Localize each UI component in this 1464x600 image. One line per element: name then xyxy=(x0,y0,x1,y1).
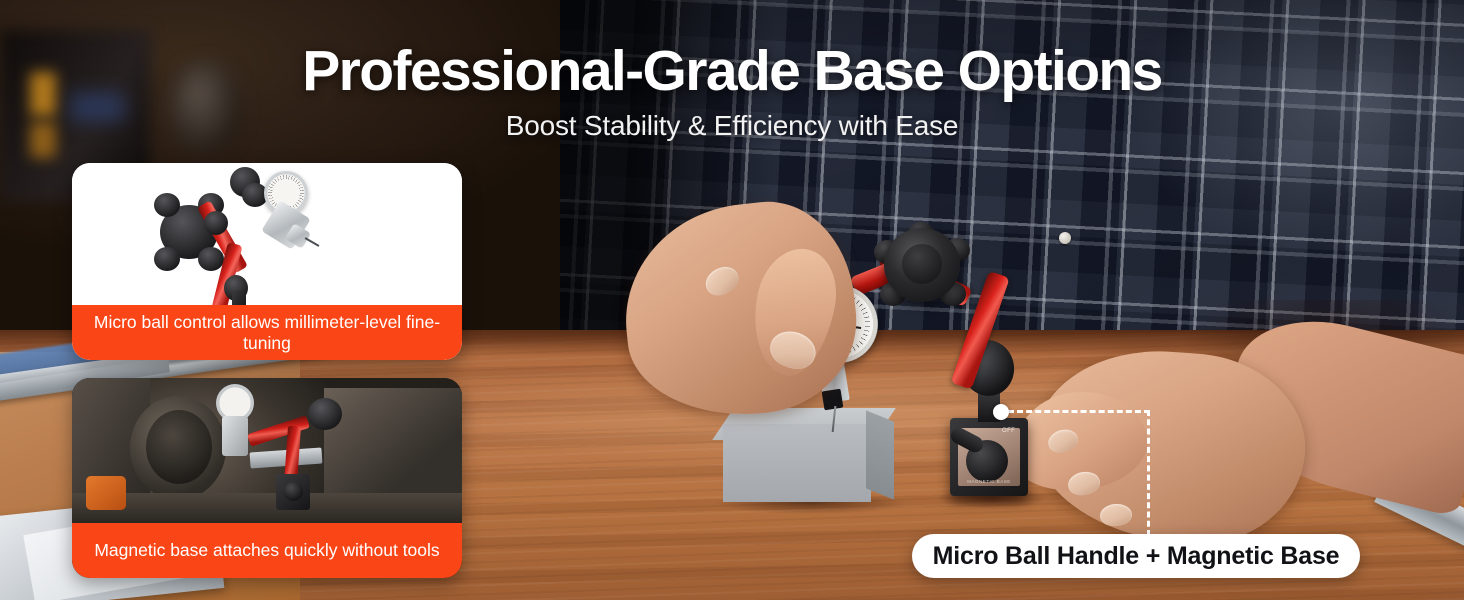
magnetic-base-body: OFF MAGNETIC BASE xyxy=(950,418,1028,496)
tool-knob-lobe-1 xyxy=(154,193,180,217)
feature-card-2-caption: Magnetic base attaches quickly without t… xyxy=(72,523,462,578)
micro-ball-handle-knob xyxy=(884,228,960,302)
callout-anchor-dot xyxy=(993,404,1009,420)
card2-dial-body xyxy=(222,416,248,456)
page-subtitle: Boost Stability & Efficiency with Ease xyxy=(0,110,1464,142)
lathe-bed xyxy=(72,493,462,523)
tool-base-post xyxy=(232,291,246,305)
workpiece-block-side xyxy=(866,410,894,499)
card2-adjust-knob xyxy=(308,398,342,430)
tool-joint-1 xyxy=(204,211,228,235)
lathe-tailstock xyxy=(324,388,462,498)
callout-leader-vertical xyxy=(1147,410,1150,536)
tool-knob-lobe-2 xyxy=(154,247,180,271)
feature-card-1-caption: Micro ball control allows millimeter-lev… xyxy=(72,305,462,360)
feature-card-1-photo xyxy=(72,163,462,305)
callout-label-pill[interactable]: Micro Ball Handle + Magnetic Base xyxy=(912,534,1360,578)
workpiece-block-front xyxy=(723,424,871,502)
page-title: Professional-Grade Base Options xyxy=(0,38,1464,104)
lathe-chuck-inner xyxy=(146,410,212,484)
feature-card-magnetic-base[interactable]: Magnetic base attaches quickly without t… xyxy=(72,378,462,578)
switch-off-label: OFF xyxy=(1002,428,1015,434)
dial-indicator-clamp xyxy=(822,389,844,411)
tool-stylus xyxy=(305,237,320,247)
card2-base-knob xyxy=(284,482,303,501)
feature-card-micro-ball[interactable]: Micro ball control allows millimeter-lev… xyxy=(72,163,462,360)
callout-label-text: Micro Ball Handle + Magnetic Base xyxy=(933,542,1340,571)
feature-card-2-photo xyxy=(72,378,462,523)
tool-knob-lobe-4 xyxy=(198,247,224,271)
lathe-orange-handle xyxy=(86,476,126,510)
callout-leader-horizontal xyxy=(1008,410,1150,413)
promo-banner: OFF MAGNETIC BASE VEVOR 0.01mm xyxy=(0,0,1464,600)
magnetic-base-brand-label: MAGNETIC BASE xyxy=(958,479,1020,484)
